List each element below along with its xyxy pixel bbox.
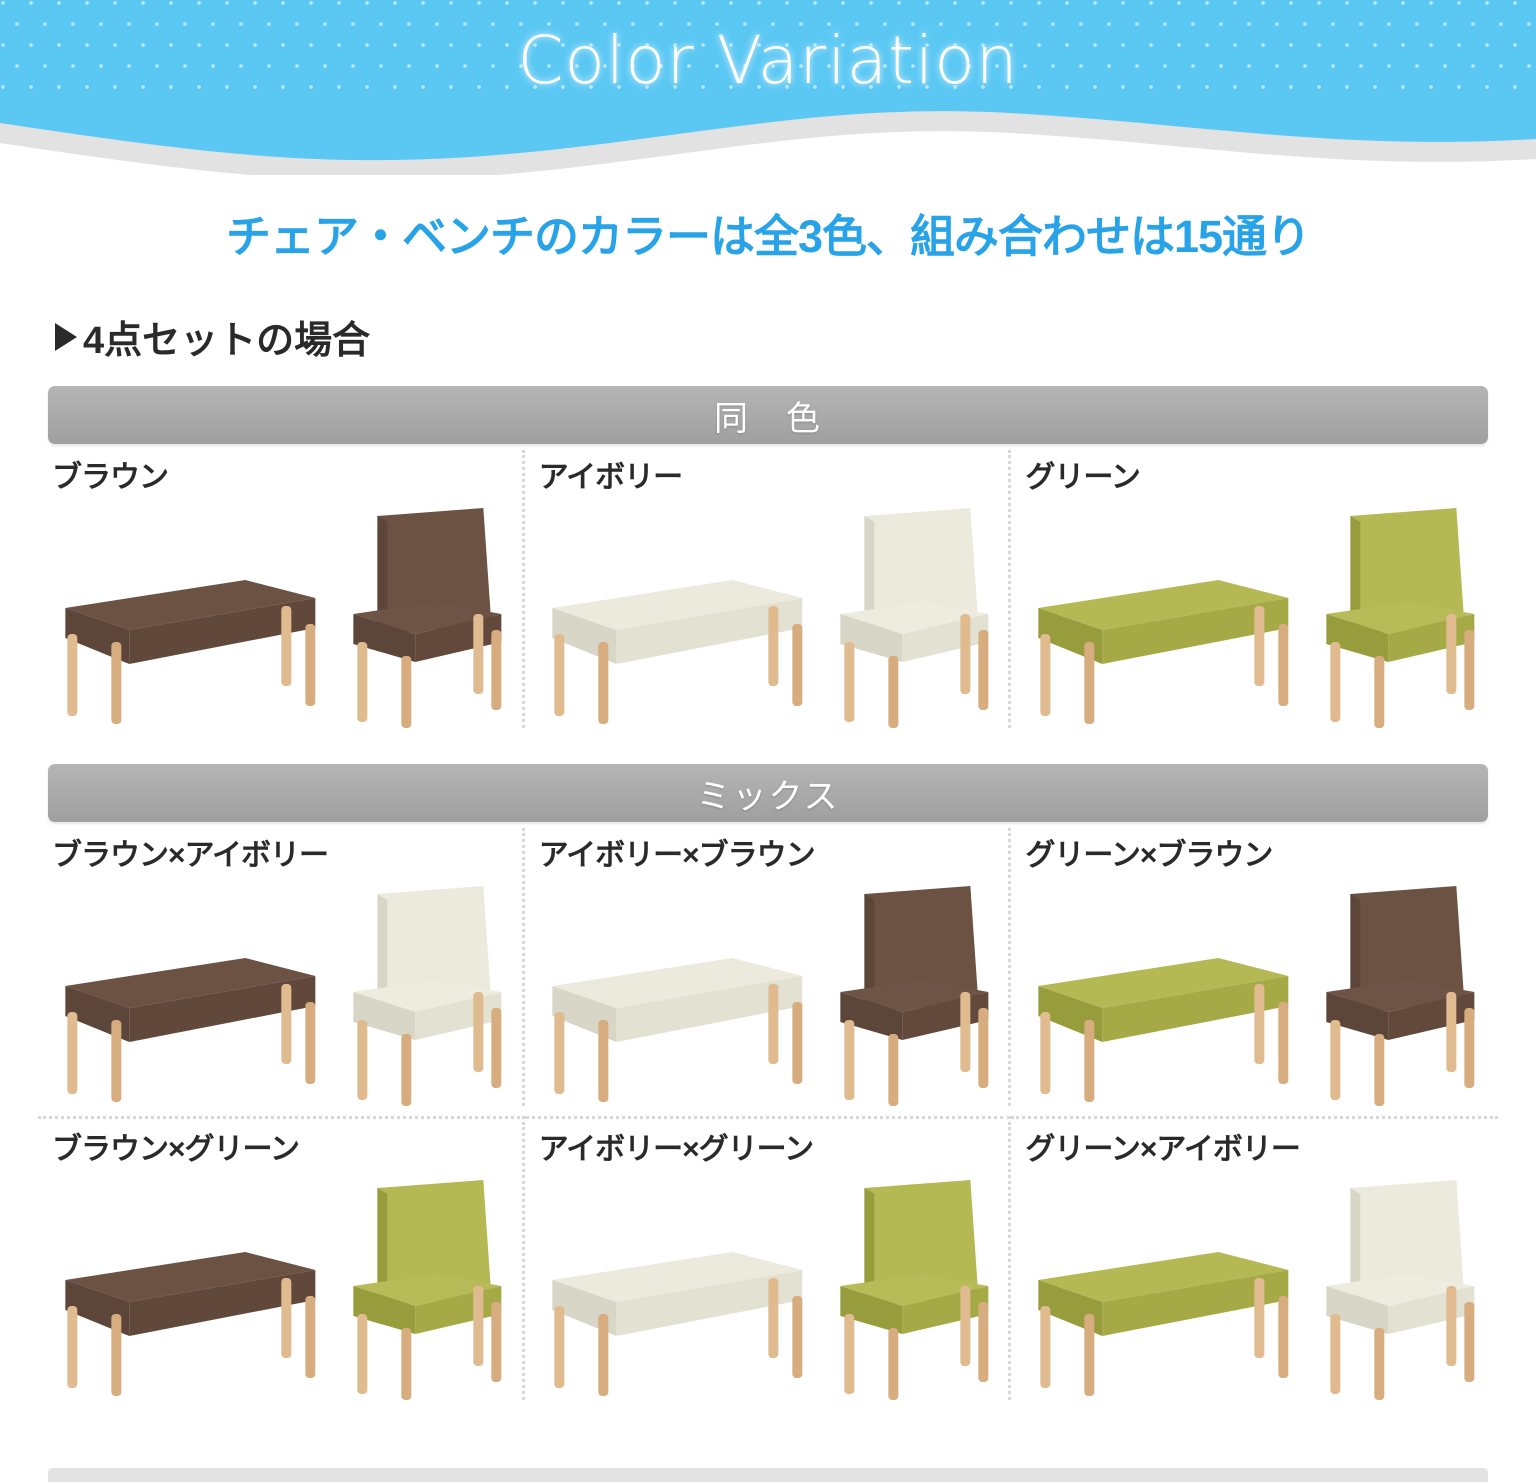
header-wave-decoration (0, 95, 1536, 175)
furniture-image (1025, 880, 1498, 1110)
variation-cell[interactable]: ブラウン×アイボリー (38, 822, 525, 1112)
band-mix-label: ミックス (697, 769, 840, 818)
section-heading: 4点セットの場合 (55, 309, 1536, 364)
variation-label: ブラウン×アイボリー (52, 836, 525, 876)
furniture-image (539, 1174, 1012, 1404)
furniture-image (539, 502, 1012, 732)
footer-divider-bar (48, 1468, 1488, 1482)
furniture-image (539, 880, 1012, 1110)
band-same-color: 同 色 (48, 386, 1488, 444)
variation-label: アイボリー×グリーン (539, 1130, 1012, 1170)
variation-cell[interactable]: ブラウン (38, 444, 525, 734)
variation-label: アイボリー (539, 458, 1012, 498)
mix-grid-row-1: ブラウン×アイボリー (38, 822, 1498, 1112)
variation-cell[interactable]: グリーン×ブラウン (1011, 822, 1498, 1112)
section-heading-label: 4点セットの場合 (83, 309, 370, 364)
variation-cell[interactable]: アイボリー×グリーン (525, 1116, 1012, 1406)
variation-cell[interactable]: グリーン (1011, 444, 1498, 734)
variation-label: アイボリー×ブラウン (539, 836, 1012, 876)
furniture-image (52, 1174, 525, 1404)
band-same-color-label: 同 色 (714, 391, 822, 440)
furniture-image (1025, 1174, 1498, 1404)
furniture-image (52, 502, 525, 732)
main-content: チェア・ベンチのカラーは全3色、組み合わせは15通り 4点セットの場合 同 色 … (0, 207, 1536, 1406)
page-title: Color Variation (0, 16, 1536, 106)
page-header-banner: Color Variation (0, 0, 1536, 175)
variation-cell[interactable]: アイボリー (525, 444, 1012, 734)
furniture-image (1025, 502, 1498, 732)
same-color-grid: ブラウン (38, 444, 1498, 734)
furniture-image (52, 880, 525, 1110)
triangle-right-icon (55, 323, 77, 351)
variation-label: グリーン×ブラウン (1025, 836, 1498, 876)
variation-cell[interactable]: グリーン×アイボリー (1011, 1116, 1498, 1406)
headline-text: チェア・ベンチのカラーは全3色、組み合わせは15通り (0, 207, 1536, 267)
variation-cell[interactable]: アイボリー×ブラウン (525, 822, 1012, 1112)
mix-grid-row-2: ブラウン×グリーン (38, 1116, 1498, 1406)
variation-label: ブラウン (52, 458, 525, 498)
variation-label: グリーン×アイボリー (1025, 1130, 1498, 1170)
band-mix: ミックス (48, 764, 1488, 822)
variation-label: ブラウン×グリーン (52, 1130, 525, 1170)
variation-label: グリーン (1025, 458, 1498, 498)
variation-cell[interactable]: ブラウン×グリーン (38, 1116, 525, 1406)
